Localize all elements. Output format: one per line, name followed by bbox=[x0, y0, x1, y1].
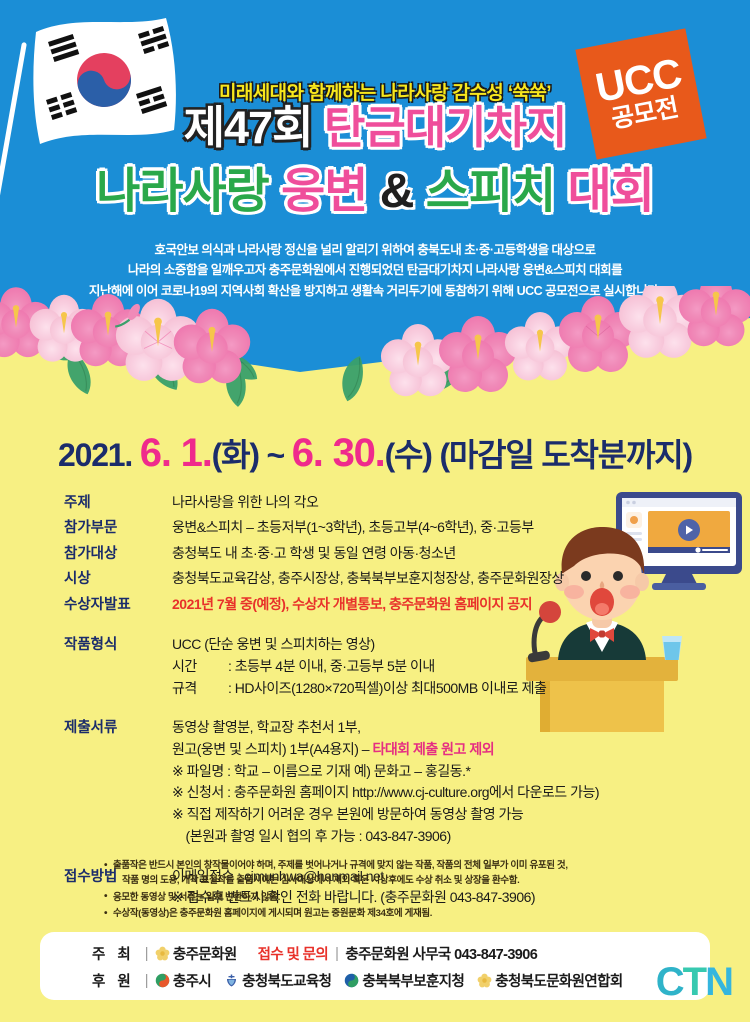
title-edition: 제47회 bbox=[184, 102, 313, 153]
terms-item-continuation: 작품 명의 도용, 개작 표절작을 출품시에는 심사대상에서 제외 혹은 시상후… bbox=[113, 873, 684, 888]
footer-sponsor-row: 후 원 | 충주시 충청북도교육청 bbox=[92, 970, 636, 991]
info-row-eligibility: 참가대상 충청북도 내 초·중·고 학생 및 동일 연령 아동·청소년 bbox=[64, 543, 624, 565]
info-row-announcement: 수상자발표 2021년 7월 중(예정), 수상자 개별통보, 충주문화원 홈페… bbox=[64, 594, 624, 616]
intro-line-2: 나라의 소중함을 일깨우고자 충주문화원에서 진행되었던 탄금대기차지 나라사랑… bbox=[60, 260, 690, 280]
documents-line: ※ 파일명 : 학교 – 이름으로 기재 예) 문화고 – 홍길동.* bbox=[172, 761, 624, 783]
footer-divider: | bbox=[145, 946, 148, 962]
info-label: 제출서류 bbox=[64, 717, 172, 739]
footer-sponsor-veterans-office: 충북북부보훈지청 bbox=[344, 970, 464, 991]
header-subtitle: 미래세대와 함께하는 나라사랑 감수성 ‘쑥쑥’ bbox=[185, 78, 585, 105]
footer-host-row: 주 최 | 충주문화원 접수 및 문의 | 충주문화원 사무국 043-847-… bbox=[92, 943, 537, 964]
period-start-date: 6. 1. bbox=[140, 431, 212, 475]
format-subline-spec: 규격 : HD사이즈(1280×720픽셀)이상 최대500MB 이내로 제출 bbox=[172, 678, 624, 700]
ctn-logo-n: N bbox=[705, 960, 732, 1004]
hibiscus-flower-band bbox=[0, 286, 750, 416]
format-subline-duration: 시간 : 초등부 4분 이내, 중·고등부 5분 이내 bbox=[172, 656, 624, 678]
ctn-logo-c: C bbox=[656, 960, 683, 1004]
format-sub-key: 시간 bbox=[172, 656, 228, 678]
period-start-weekday: (화) bbox=[212, 437, 259, 473]
footer-inquiry-label: 접수 및 문의 bbox=[258, 943, 329, 964]
footer-sponsor-education-office: 충청북도교육청 bbox=[224, 970, 331, 991]
flower-emblem-icon bbox=[477, 973, 492, 988]
format-sub-key: 규격 bbox=[172, 678, 228, 700]
footer-sponsor-culture-federation: 충청북도문화원연합회 bbox=[477, 970, 622, 991]
info-value: 동영상 촬영분, 학교장 추천서 1부, 원고(웅변 및 스피치) 1부(A4용… bbox=[172, 717, 624, 847]
period-note: (마감일 도착분까지) bbox=[439, 437, 692, 473]
info-row-awards: 시상 충청북도교육감상, 충주시장상, 충북북부보훈지청장상, 충주문화원장상 bbox=[64, 568, 624, 590]
info-value: 나라사랑을 위한 나의 각오 bbox=[172, 492, 624, 514]
intro-line-1: 호국안보 의식과 나라사랑 정신을 널리 알리기 위하여 충북도내 초·중·고등… bbox=[60, 240, 690, 260]
footer-sponsor-chungju-city: 충주시 bbox=[155, 970, 211, 991]
footer-host-org: 충주문화원 bbox=[155, 943, 237, 964]
period-separator: ~ bbox=[267, 437, 285, 473]
info-value: 충청북도 내 초·중·고 학생 및 동일 연령 아동·청소년 bbox=[172, 543, 624, 565]
footer-sponsor-name: 충청북도문화원연합회 bbox=[495, 970, 622, 991]
documents-line: ※ 신청서 : 충주문화원 홈페이지 http://www.cj-culture… bbox=[172, 782, 624, 804]
footer-sponsor-name: 충청북도교육청 bbox=[242, 970, 331, 991]
footer-divider: | bbox=[145, 973, 148, 989]
documents-line: 원고(웅변 및 스피치) 1부(A4용지) – 타대회 제출 원고 제외 bbox=[172, 739, 624, 761]
info-value: 웅변&스피치 – 초등저부(1~3학년), 초등고부(4~6학년), 중·고등부 bbox=[172, 517, 624, 539]
education-emblem-icon bbox=[224, 973, 239, 988]
info-value: UCC (단순 웅변 및 스피치하는 영상) 시간 : 초등부 4분 이내, 중… bbox=[172, 634, 624, 699]
terms-item-text: 출품작은 반드시 본인의 창작물이어야 하며, 주제를 벗어나거나 규격에 맞지… bbox=[113, 860, 568, 871]
period-year: 2021. bbox=[58, 437, 132, 473]
ucc-badge: UCC 공모전 bbox=[575, 28, 706, 159]
ctn-channel-logo: CTN bbox=[656, 962, 732, 1002]
title-competition-name: 탄금대기차지 bbox=[324, 102, 566, 153]
info-row-topic: 주제 나라사랑을 위한 나의 각오 bbox=[64, 492, 624, 514]
footer-host-label: 주 최 bbox=[92, 943, 135, 964]
format-sub-text: 초등부 4분 이내, 중·고등부 5분 이내 bbox=[235, 656, 435, 678]
format-sub-sep: : bbox=[228, 678, 235, 700]
footer-sponsor-name: 충주시 bbox=[173, 970, 211, 991]
info-row-format: 작품형식 UCC (단순 웅변 및 스피치하는 영상) 시간 : 초등부 4분 … bbox=[64, 634, 624, 699]
info-value: 2021년 7월 중(예정), 수상자 개별통보, 충주문화원 홈페이지 공지 bbox=[172, 594, 624, 616]
info-label: 참가대상 bbox=[64, 543, 172, 565]
footer-divider: | bbox=[335, 946, 338, 962]
documents-line: (본원과 촬영 일시 협의 후 가능 : 043-847-3906) bbox=[172, 826, 624, 848]
terms-item: 응모한 동영상 및 서류는 일체 반환하지 않음. bbox=[104, 890, 684, 905]
taegeuk-emblem-icon bbox=[344, 973, 359, 988]
mugunghwa-flowers-icon bbox=[0, 286, 750, 416]
info-label: 주제 bbox=[64, 492, 172, 514]
swirl-emblem-icon bbox=[155, 973, 170, 988]
documents-line-text: 원고(웅변 및 스피치) 1부(A4용지) – bbox=[172, 741, 372, 757]
footer-host-name: 충주문화원 bbox=[173, 943, 237, 964]
terms-item: 수상작(동영상)은 충주문화원 홈페이지에 게시되며 원고는 중원문화 제34호… bbox=[104, 906, 684, 921]
title-ampersand: & bbox=[380, 165, 414, 218]
title-line-1: 제47회 탄금대기차지 bbox=[140, 105, 610, 150]
title-word-oratory: 웅변 bbox=[281, 165, 367, 218]
event-period: 2021. 6. 1.(화) ~ 6. 30.(수) (마감일 도착분까지) bbox=[0, 430, 750, 476]
title-line-2: 나라사랑 웅변 & 스피치 대회 bbox=[55, 168, 695, 216]
footer-sponsor-name: 충북북부보훈지청 bbox=[362, 970, 464, 991]
info-label: 작품형식 bbox=[64, 634, 172, 656]
terms-item: 출품작은 반드시 본인의 창작물이어야 하며, 주제를 벗어나거나 규격에 맞지… bbox=[104, 858, 684, 889]
poster-root: 미래세대와 함께하는 나라사랑 감수성 ‘쑥쑥’ 제47회 탄금대기차지 나라사… bbox=[0, 0, 750, 1022]
footer-card: 주 최 | 충주문화원 접수 및 문의 | 충주문화원 사무국 043-847-… bbox=[40, 932, 710, 1000]
format-sub-text: HD사이즈(1280×720픽셀)이상 최대500MB 이내로 제출 bbox=[235, 678, 547, 700]
flower-emblem-icon bbox=[155, 946, 170, 961]
title-word-contest: 대회 bbox=[568, 165, 654, 218]
documents-line: 동영상 촬영분, 학교장 추천서 1부, bbox=[172, 717, 624, 739]
title-word-narasarang: 나라사랑 bbox=[96, 165, 269, 218]
info-value: 충청북도교육감상, 충주시장상, 충북북부보훈지청장상, 충주문화원장상 bbox=[172, 568, 624, 590]
info-label: 시상 bbox=[64, 568, 172, 590]
footer-sponsor-label: 후 원 bbox=[92, 970, 135, 991]
footer-inquiry-value: 충주문화원 사무국 043-847-3906 bbox=[345, 943, 537, 964]
info-label: 참가부문 bbox=[64, 517, 172, 539]
terms-and-conditions: 출품작은 반드시 본인의 창작물이어야 하며, 주제를 벗어나거나 규격에 맞지… bbox=[104, 858, 684, 923]
title-word-speech: 스피치 bbox=[426, 165, 555, 218]
period-end-date: 6. 30. bbox=[292, 431, 385, 475]
ctn-logo-t: T bbox=[683, 960, 705, 1004]
information-table: 주제 나라사랑을 위한 나의 각오 참가부문 웅변&스피치 – 초등저부(1~3… bbox=[64, 492, 624, 912]
documents-line-highlight: 타대회 제출 원고 제외 bbox=[372, 741, 494, 757]
format-sub-sep: : bbox=[228, 656, 235, 678]
info-row-divisions: 참가부문 웅변&스피치 – 초등저부(1~3학년), 초등고부(4~6학년), … bbox=[64, 517, 624, 539]
info-row-documents: 제출서류 동영상 촬영분, 학교장 추천서 1부, 원고(웅변 및 스피치) 1… bbox=[64, 717, 624, 847]
format-main: UCC (단순 웅변 및 스피치하는 영상) bbox=[172, 634, 624, 656]
water-glass-icon bbox=[662, 636, 682, 660]
period-end-weekday: (수) bbox=[385, 437, 432, 473]
info-label: 수상자발표 bbox=[64, 594, 172, 616]
documents-line: ※ 직접 제작하기 어려운 경우 본원에 방문하여 동영상 촬영 가능 bbox=[172, 804, 624, 826]
